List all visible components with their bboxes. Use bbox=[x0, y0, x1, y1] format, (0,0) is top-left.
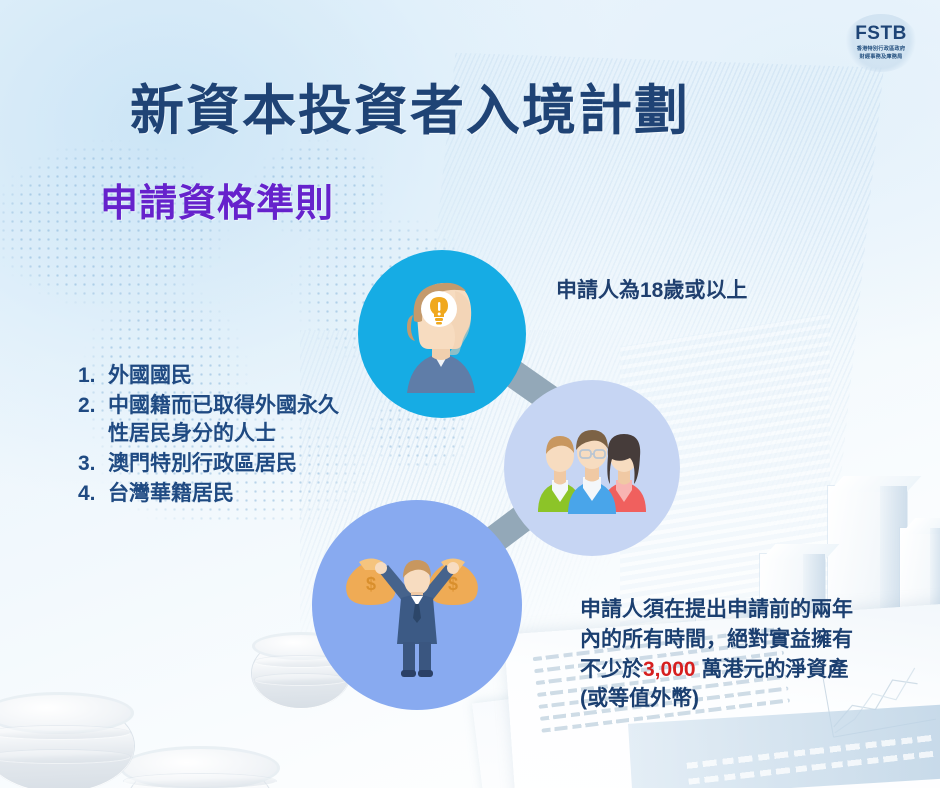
fstb-logo: FSTB 香港特別行政區政府 財經事務及庫務局 bbox=[844, 14, 918, 72]
asset-note-line-2: 內的所有時間，絕對實益擁有 bbox=[580, 625, 932, 655]
paper-blue-band bbox=[628, 704, 940, 788]
three-people-group-icon bbox=[530, 420, 654, 516]
logo-chinese-line-1: 香港特別行政區政府 bbox=[857, 46, 906, 54]
list-item: 3. 澳門特別行政區居民 bbox=[78, 450, 339, 478]
asset-amount-highlight: 3,000 bbox=[643, 658, 696, 681]
asset-note-line-1: 申請人須在提出申請前的兩年 bbox=[580, 595, 932, 625]
list-item-text: 外國國民 bbox=[108, 362, 192, 390]
page-subtitle: 申請資格準則 bbox=[100, 172, 334, 227]
eligibility-list: 1. 外國國民 2. 中國籍而已取得外國永久 性居民身分的人士 3. 澳門特別行… bbox=[78, 362, 339, 510]
illustration-circle-businessman-money: $ $ bbox=[312, 500, 522, 710]
illustration-circle-person-idea bbox=[358, 250, 526, 418]
glass-tower-background bbox=[620, 313, 830, 788]
list-item: 4. 台灣華籍居民 bbox=[78, 480, 339, 508]
asset-note-line-3: 不少於3,000 萬港元的淨資產 bbox=[580, 655, 932, 685]
page-title: 新資本投資者入境計劃 bbox=[130, 66, 690, 145]
businessman-money-bags-icon: $ $ bbox=[343, 530, 491, 680]
list-item-number: 1. bbox=[78, 362, 108, 390]
paper-band-text-texture bbox=[685, 723, 937, 785]
note-age-requirement: 申請人為18歲或以上 bbox=[556, 274, 747, 304]
infographic-poster: FSTB 香港特別行政區政府 財經事務及庫務局 新資本投資者入境計劃 申請資格準… bbox=[0, 0, 940, 788]
list-item: 2. 中國籍而已取得外國永久 性居民身分的人士 bbox=[78, 392, 339, 448]
person-idea-head-icon bbox=[377, 269, 507, 399]
list-item-text: 台灣華籍居民 bbox=[108, 480, 234, 508]
list-item-text: 中國籍而已取得外國永久 性居民身分的人士 bbox=[108, 392, 339, 448]
asset-note-line-4: (或等值外幣) bbox=[580, 684, 932, 714]
asset-note-suffix: 萬港元的淨資產 bbox=[696, 658, 849, 681]
logo-acronym: FSTB bbox=[855, 24, 907, 43]
list-item-number: 4. bbox=[78, 480, 108, 508]
note-asset-requirement: 申請人須在提出申請前的兩年 內的所有時間，絕對實益擁有 不少於3,000 萬港元… bbox=[580, 595, 932, 714]
logo-chinese-line-2: 財經事務及庫務局 bbox=[857, 54, 906, 62]
list-item: 1. 外國國民 bbox=[78, 362, 339, 390]
svg-text:$: $ bbox=[366, 574, 376, 594]
coin-stacks-background bbox=[0, 488, 340, 788]
list-item-text: 澳門特別行政區居民 bbox=[108, 450, 297, 478]
asset-note-prefix: 不少於 bbox=[580, 658, 643, 681]
list-item-number: 3. bbox=[78, 450, 108, 478]
list-item-number: 2. bbox=[78, 392, 108, 448]
illustration-circle-three-people bbox=[504, 380, 680, 556]
